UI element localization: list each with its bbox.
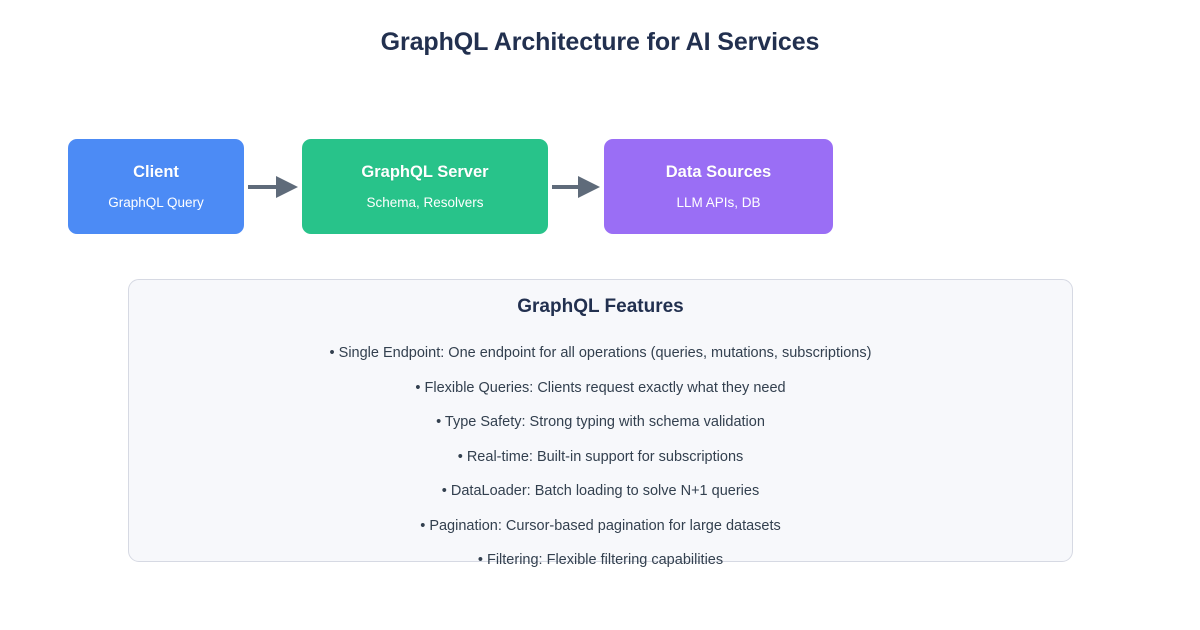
flow-node-data-sources-subtitle: LLM APIs, DB: [676, 196, 760, 210]
arrow-right-icon-client-to-server: [248, 183, 298, 191]
arrow-head: [276, 176, 298, 198]
flow-node-data-sources[interactable]: Data Sources LLM APIs, DB: [604, 139, 833, 234]
feature-list-item: • Filtering: Flexible filtering capabili…: [129, 543, 1072, 578]
flow-node-client[interactable]: Client GraphQL Query: [68, 139, 244, 234]
arrow-head: [578, 176, 600, 198]
page-title: GraphQL Architecture for AI Services: [0, 28, 1200, 57]
features-list: • Single Endpoint: One endpoint for all …: [129, 336, 1072, 578]
architecture-flow-row: Client GraphQL Query GraphQL Server Sche…: [68, 139, 833, 234]
feature-list-item: • Type Safety: Strong typing with schema…: [129, 405, 1072, 440]
arrow-line: [248, 185, 279, 189]
diagram-canvas: GraphQL Architecture for AI Services Cli…: [0, 0, 1200, 630]
feature-list-item: • DataLoader: Batch loading to solve N+1…: [129, 474, 1072, 509]
arrow-right-icon-server-to-data: [552, 183, 600, 191]
graphql-features-panel: GraphQL Features • Single Endpoint: One …: [128, 279, 1073, 562]
feature-list-item: • Flexible Queries: Clients request exac…: [129, 371, 1072, 406]
feature-list-item: • Single Endpoint: One endpoint for all …: [129, 336, 1072, 371]
feature-list-item: • Real-time: Built-in support for subscr…: [129, 440, 1072, 475]
flow-node-data-sources-title: Data Sources: [666, 164, 771, 181]
flow-node-client-title: Client: [133, 164, 179, 181]
flow-node-graphql-server-title: GraphQL Server: [361, 164, 488, 181]
flow-node-client-subtitle: GraphQL Query: [108, 196, 204, 210]
feature-list-item: • Pagination: Cursor-based pagination fo…: [129, 509, 1072, 544]
flow-node-graphql-server-subtitle: Schema, Resolvers: [366, 196, 483, 210]
features-panel-title: GraphQL Features: [129, 296, 1072, 318]
flow-node-graphql-server[interactable]: GraphQL Server Schema, Resolvers: [302, 139, 548, 234]
